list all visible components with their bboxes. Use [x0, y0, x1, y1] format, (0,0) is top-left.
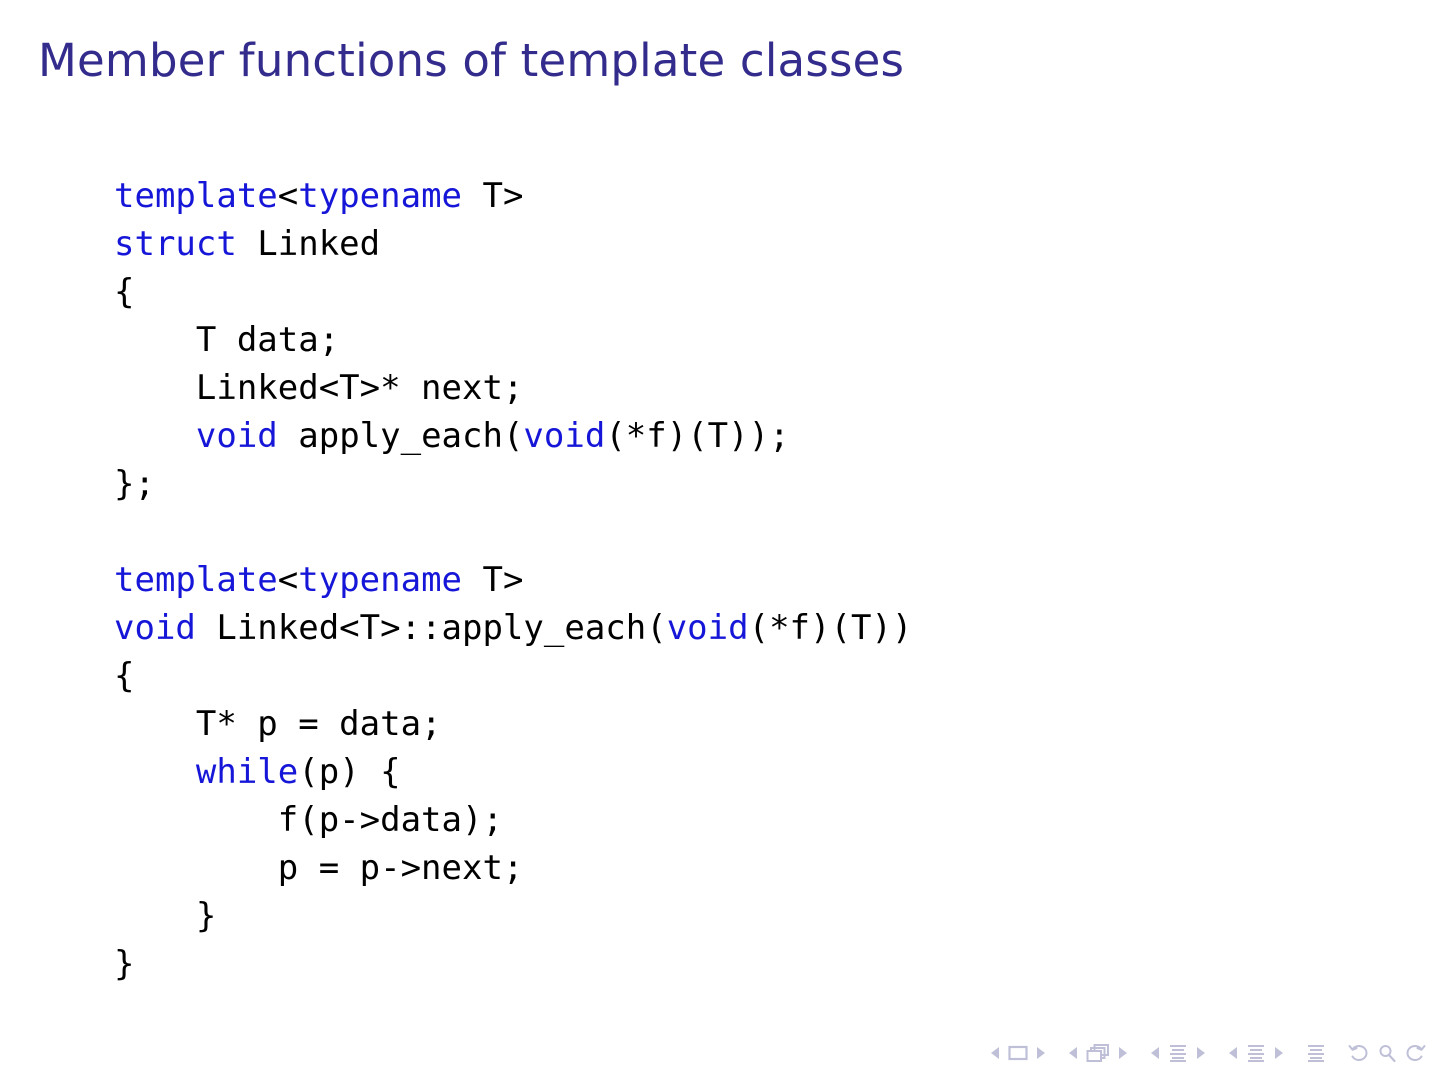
code-text: T data; [196, 320, 339, 360]
code-text: p = p->next; [278, 848, 524, 888]
code-line: void apply_each(void(*f)(T)); [114, 412, 912, 460]
code-text: Linked [237, 224, 380, 264]
prev-section-icon[interactable] [1228, 1046, 1239, 1060]
nav-group-document [1306, 1043, 1326, 1063]
nav-group-section [1228, 1043, 1284, 1063]
code-text: T> [462, 560, 523, 600]
code-line: f(p->data); [114, 796, 912, 844]
code-indent [114, 848, 278, 888]
prev-slide-icon[interactable] [990, 1046, 1001, 1060]
code-keyword: while [196, 752, 298, 792]
code-text: T* p = data; [196, 704, 442, 744]
code-text: f(p->data); [278, 800, 503, 840]
code-keyword: void [196, 416, 278, 456]
back-icon[interactable] [1348, 1043, 1370, 1063]
code-indent [114, 416, 196, 456]
code-line: void Linked<T>::apply_each(void(*f)(T)) [114, 604, 912, 652]
code-text: (*f)(T)) [749, 608, 913, 648]
code-line: { [114, 268, 912, 316]
section-icon[interactable] [1246, 1043, 1266, 1063]
code-indent [114, 368, 196, 408]
code-text: } [114, 944, 134, 984]
code-text: }; [114, 464, 155, 504]
code-keyword: void [667, 608, 749, 648]
code-text: (*f)(T)); [605, 416, 789, 456]
code-line: template<typename T> [114, 172, 912, 220]
code-line: template<typename T> [114, 556, 912, 604]
next-section-icon[interactable] [1273, 1046, 1284, 1060]
slide-icon[interactable] [1008, 1045, 1028, 1061]
code-line: T data; [114, 316, 912, 364]
document-icon[interactable] [1306, 1043, 1326, 1063]
code-text: < [278, 560, 298, 600]
code-text: Linked<T>::apply_each( [196, 608, 667, 648]
code-text: { [114, 272, 134, 312]
nav-group-slide [990, 1045, 1046, 1061]
slide-canvas: Member functions of template classes tem… [0, 0, 1440, 1080]
code-line: } [114, 892, 912, 940]
nav-group-frame [1068, 1043, 1128, 1063]
code-listing: template<typename T>struct Linked{ T dat… [114, 172, 912, 988]
forward-icon[interactable] [1404, 1043, 1426, 1063]
prev-subsection-icon[interactable] [1150, 1046, 1161, 1060]
code-text: apply_each( [278, 416, 524, 456]
code-line: while(p) { [114, 748, 912, 796]
code-indent [114, 752, 196, 792]
beamer-navigation-bar[interactable] [990, 1038, 1426, 1068]
code-indent [114, 800, 278, 840]
code-line: }; [114, 460, 912, 508]
code-keyword: struct [114, 224, 237, 264]
code-line: struct Linked [114, 220, 912, 268]
code-keyword: template [114, 560, 278, 600]
code-keyword: template [114, 176, 278, 216]
code-text: < [278, 176, 298, 216]
nav-group-history [1348, 1043, 1426, 1063]
frame-icon[interactable] [1086, 1043, 1110, 1063]
code-text: } [196, 896, 216, 936]
code-line [114, 508, 912, 556]
code-text: (p) { [298, 752, 400, 792]
code-indent [114, 704, 196, 744]
code-keyword: void [523, 416, 605, 456]
code-indent [114, 320, 196, 360]
nav-group-subsection [1150, 1043, 1206, 1063]
prev-frame-icon[interactable] [1068, 1046, 1079, 1060]
code-text: { [114, 656, 134, 696]
next-subsection-icon[interactable] [1195, 1046, 1206, 1060]
subsection-icon[interactable] [1168, 1043, 1188, 1063]
code-line: { [114, 652, 912, 700]
code-keyword: typename [298, 176, 462, 216]
code-text: Linked<T>* next; [196, 368, 524, 408]
code-indent [114, 896, 196, 936]
find-icon[interactable] [1377, 1043, 1397, 1063]
code-keyword: void [114, 608, 196, 648]
next-frame-icon[interactable] [1117, 1046, 1128, 1060]
code-text: T> [462, 176, 523, 216]
code-line: Linked<T>* next; [114, 364, 912, 412]
code-line: T* p = data; [114, 700, 912, 748]
page-title: Member functions of template classes [38, 34, 904, 87]
code-line: p = p->next; [114, 844, 912, 892]
code-line: } [114, 940, 912, 988]
code-keyword: typename [298, 560, 462, 600]
next-slide-icon[interactable] [1035, 1046, 1046, 1060]
